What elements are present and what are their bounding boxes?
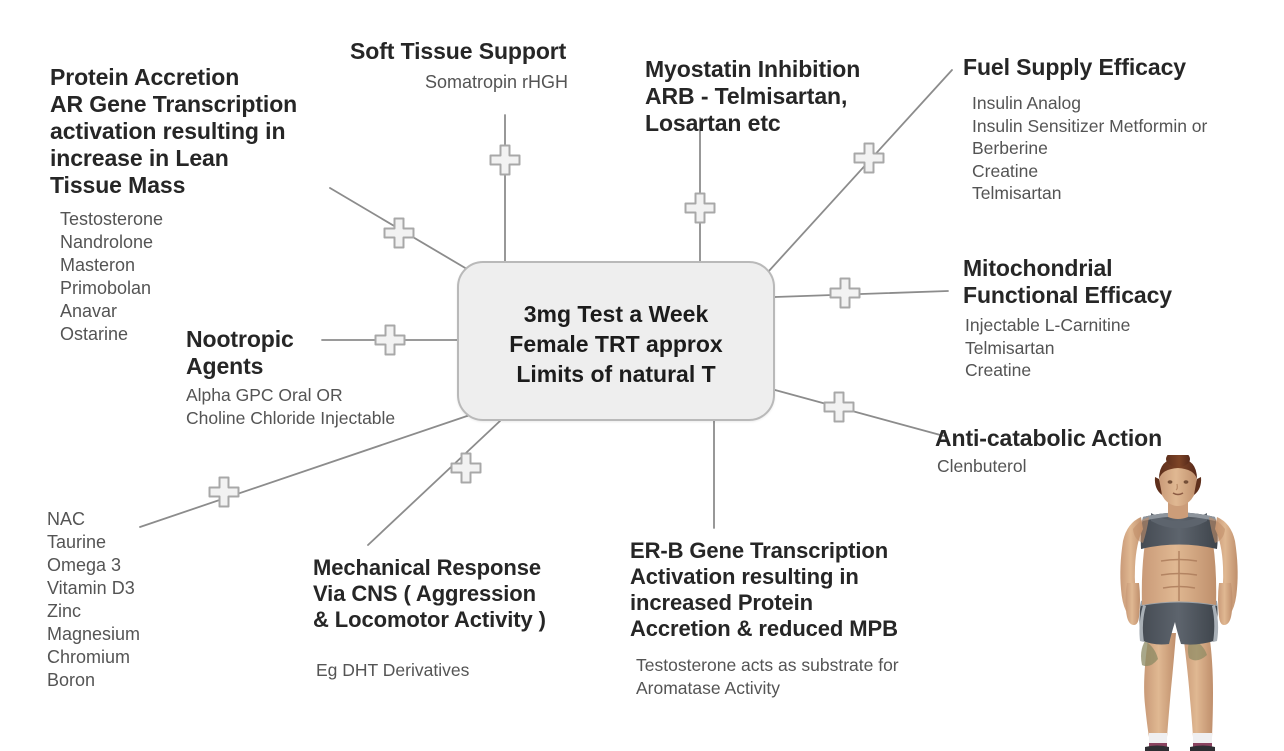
node-nootropic-agents-heading: Nootropic Agents: [186, 326, 466, 380]
list-item: NAC: [47, 508, 247, 531]
node-fuel-supply-efficacy-items: Insulin Analog Insulin Sensitizer Metfor…: [963, 92, 1273, 205]
list-item: Telmisartan: [972, 182, 1273, 205]
node-mechanical-response-items: Eg DHT Derivatives: [313, 659, 623, 682]
list-item: Testosterone: [60, 208, 350, 231]
node-anti-catabolic-action-heading: Anti-catabolic Action: [935, 425, 1235, 452]
list-item: Creatine: [972, 160, 1273, 183]
node-protein-accretion-heading: Protein Accretion AR Gene Transcription …: [50, 64, 350, 199]
node-micronutrient-support: NAC Taurine Omega 3 Vitamin D3 Zinc Magn…: [47, 508, 247, 692]
diagram-canvas: 3mg Test a Week Female TRT approx Limits…: [0, 0, 1284, 751]
list-item: Primobolan: [60, 277, 350, 300]
node-soft-tissue-support-items: Somatropin rHGH: [350, 71, 620, 94]
node-mechanical-response: Mechanical Response Via CNS ( Aggression…: [313, 555, 623, 682]
list-item: Injectable L-Carnitine: [965, 314, 1263, 337]
node-nootropic-agents-items: Alpha GPC Oral OR Choline Chloride Injec…: [186, 384, 466, 429]
node-mechanical-response-heading: Mechanical Response Via CNS ( Aggression…: [313, 555, 623, 633]
list-item: Boron: [47, 669, 247, 692]
node-fuel-supply-efficacy-heading: Fuel Supply Efficacy: [963, 54, 1273, 81]
plus-icon-anti-catabolic: [821, 389, 857, 425]
plus-icon-mechanical-response: [448, 450, 484, 486]
list-item: Somatropin rHGH: [425, 71, 620, 94]
list-item: Testosterone acts as substrate for: [636, 654, 990, 677]
list-item: Nandrolone: [60, 231, 350, 254]
list-item: Creatine: [965, 359, 1263, 382]
list-item: Vitamin D3: [47, 577, 247, 600]
node-er-b-gene-transcription-heading: ER-B Gene Transcription Activation resul…: [630, 538, 990, 642]
node-myostatin-inhibition-heading: Myostatin Inhibition ARB - Telmisartan, …: [645, 56, 915, 137]
center-node-text: 3mg Test a Week Female TRT approx Limits…: [459, 299, 773, 389]
plus-icon-mitochondrial: [827, 275, 863, 311]
node-er-b-gene-transcription-items: Testosterone acts as substrate for Aroma…: [630, 654, 990, 699]
list-item: Berberine: [972, 137, 1273, 160]
list-item: Zinc: [47, 600, 247, 623]
node-nootropic-agents: Nootropic Agents Alpha GPC Oral OR Choli…: [186, 326, 466, 429]
plus-icon-myostatin: [682, 190, 718, 226]
center-line-3: Limits of natural T: [459, 359, 773, 389]
list-item: Taurine: [47, 531, 247, 554]
node-protein-accretion: Protein Accretion AR Gene Transcription …: [50, 64, 350, 346]
node-fuel-supply-efficacy: Fuel Supply Efficacy Insulin Analog Insu…: [963, 54, 1273, 205]
list-item: Anavar: [60, 300, 350, 323]
list-item: Insulin Analog: [972, 92, 1273, 115]
center-line-2: Female TRT approx: [459, 329, 773, 359]
list-item: Insulin Sensitizer Metformin or: [972, 115, 1273, 138]
list-item: Telmisartan: [965, 337, 1263, 360]
node-myostatin-inhibition: Myostatin Inhibition ARB - Telmisartan, …: [645, 56, 915, 137]
plus-icon-soft-tissue: [487, 142, 523, 178]
node-mitochondrial-functional-efficacy-heading: Mitochondrial Functional Efficacy: [963, 255, 1263, 309]
list-item: Aromatase Activity: [636, 677, 990, 700]
plus-icon-protein-accretion: [381, 215, 417, 251]
node-mitochondrial-functional-efficacy: Mitochondrial Functional Efficacy Inject…: [963, 255, 1263, 382]
list-item: Masteron: [60, 254, 350, 277]
node-soft-tissue-support: Soft Tissue Support Somatropin rHGH: [350, 38, 620, 94]
plus-icon-fuel-supply: [851, 140, 887, 176]
list-item: Eg DHT Derivatives: [316, 659, 623, 682]
line-anti-catabolic: [775, 390, 944, 436]
list-item: Choline Chloride Injectable: [186, 407, 466, 430]
center-line-1: 3mg Test a Week: [459, 299, 773, 329]
list-item: Omega 3: [47, 554, 247, 577]
list-item: Alpha GPC Oral OR: [186, 384, 466, 407]
list-item: Chromium: [47, 646, 247, 669]
list-item: Magnesium: [47, 623, 247, 646]
node-er-b-gene-transcription: ER-B Gene Transcription Activation resul…: [630, 538, 990, 699]
plus-icon-micronutrients: [206, 474, 242, 510]
node-micronutrient-support-items: NAC Taurine Omega 3 Vitamin D3 Zinc Magn…: [47, 508, 247, 692]
center-node: 3mg Test a Week Female TRT approx Limits…: [457, 261, 775, 421]
female-athlete-illustration: [1083, 455, 1273, 751]
node-soft-tissue-support-heading: Soft Tissue Support: [350, 38, 620, 65]
node-mitochondrial-functional-efficacy-items: Injectable L-Carnitine Telmisartan Creat…: [963, 314, 1263, 382]
